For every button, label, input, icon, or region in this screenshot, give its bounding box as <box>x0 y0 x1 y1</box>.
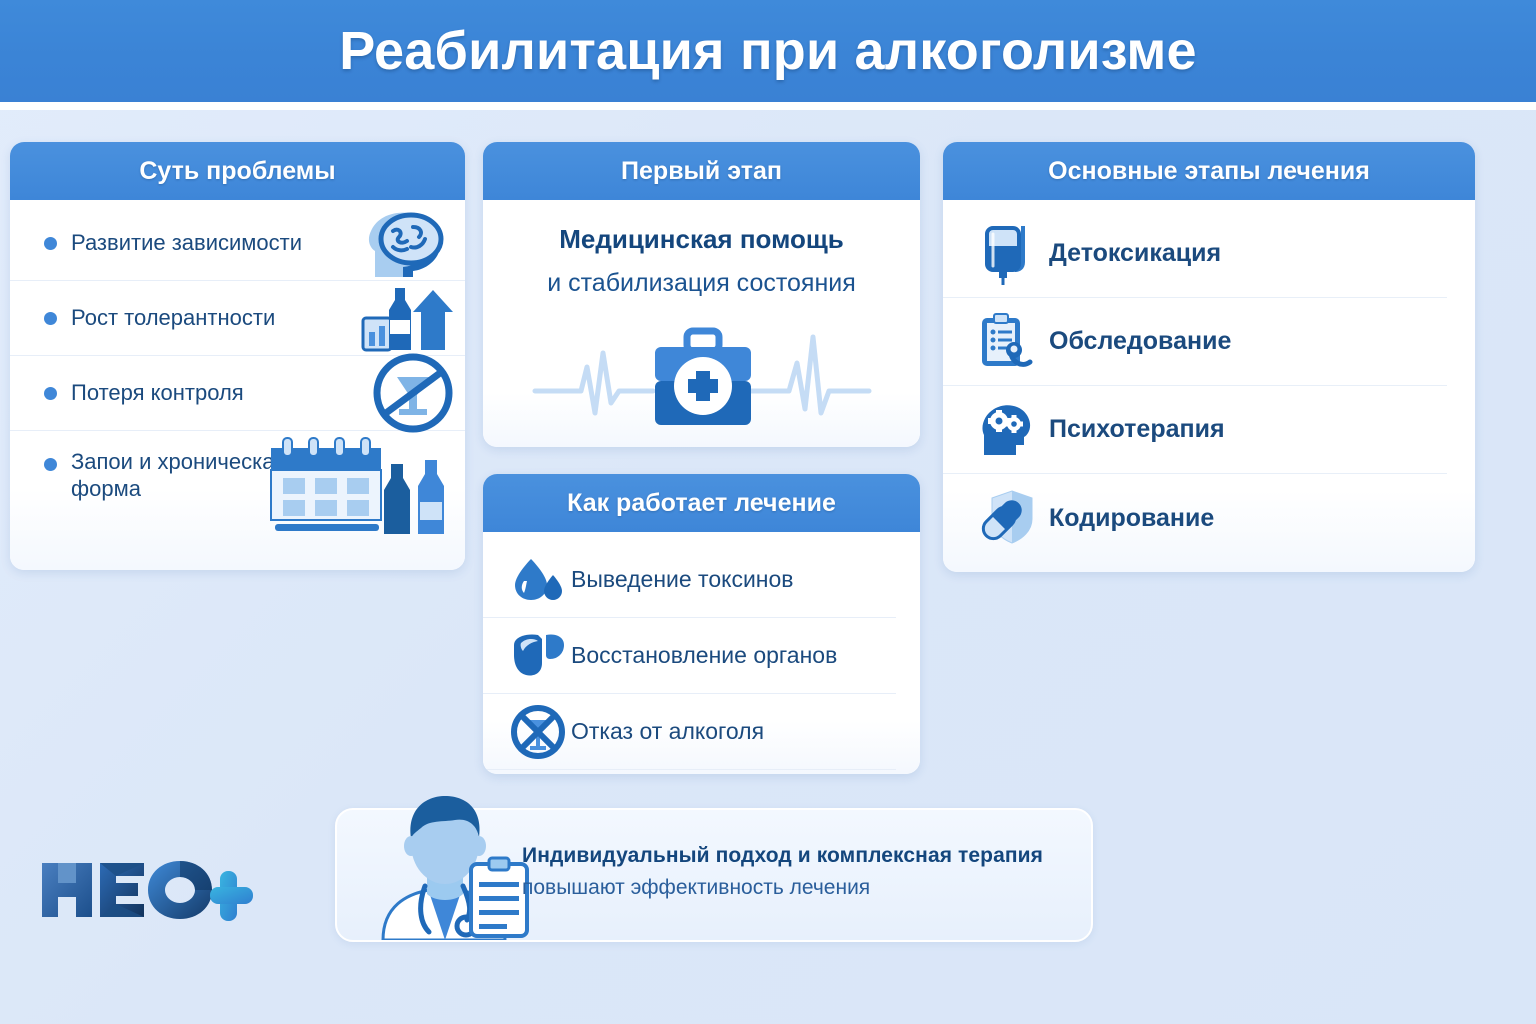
list-item[interactable]: Восстановление органов <box>483 618 896 694</box>
stage-item-label: Психотерапия <box>1049 415 1225 444</box>
first-stage-line-1: Медицинская помощь <box>503 224 900 255</box>
brain-head-icon <box>359 207 455 279</box>
liver-icon <box>509 633 567 679</box>
panel-treatment-stages-title: Основные этапы лечения <box>1048 157 1370 186</box>
bullet-icon <box>44 458 57 471</box>
panel-first-stage-header: Первый этап <box>483 142 920 200</box>
panel-problem-body: Развитие зависимости Рост толерантнос <box>10 200 465 570</box>
stage-item-label: Детоксикация <box>1049 239 1221 268</box>
banner-text: Индивидуальный подход и комплексная тера… <box>522 844 1082 900</box>
bullet-icon <box>44 312 57 325</box>
list-item[interactable]: Отказ от алкоголя <box>483 694 896 770</box>
first-stage-line-2: и стабилизация состояния <box>503 269 900 298</box>
panel-first-stage-title: Первый этап <box>621 157 782 186</box>
problem-item-label: Рост толерантности <box>71 305 275 332</box>
pill-shield-icon <box>971 489 1043 547</box>
panel-first-stage: Первый этап Медицинская помощь и стабили… <box>483 142 920 447</box>
neo-plus-logo <box>38 855 258 925</box>
bullet-icon <box>44 237 57 250</box>
stage-item-label: Обследование <box>1049 327 1231 356</box>
summary-banner: Индивидуальный подход и комплексная тера… <box>335 808 1093 942</box>
list-item[interactable]: Обследование <box>943 298 1447 386</box>
no-drink-icon <box>509 704 567 760</box>
list-item[interactable]: Потеря контроля <box>10 356 465 431</box>
panel-first-stage-body: Медицинская помощь и стабилизация состоя… <box>483 200 920 447</box>
bottle-growth-arrow-icon <box>359 280 455 356</box>
list-item[interactable]: Выведение токсинов <box>483 542 896 618</box>
panel-problem: Суть проблемы Развитие зависимости <box>10 142 465 570</box>
stage-item-label: Кодирование <box>1049 504 1214 533</box>
list-item[interactable]: Психотерапия <box>943 386 1447 474</box>
list-item[interactable]: Кодирование <box>943 474 1447 562</box>
iv-drip-icon <box>971 222 1043 286</box>
panel-treatment-stages-header: Основные этапы лечения <box>943 142 1475 200</box>
first-aid-kit-heartbeat-icon <box>483 317 920 435</box>
problem-item-label: Развитие зависимости <box>71 230 302 257</box>
no-alcohol-icon <box>371 351 455 435</box>
header-underline <box>0 102 1536 110</box>
bullet-icon <box>44 387 57 400</box>
water-drop-icon <box>509 555 567 605</box>
panel-problem-header: Суть проблемы <box>10 142 465 200</box>
how-it-works-list: Выведение токсинов Восстановление органо… <box>483 532 920 770</box>
list-item[interactable]: Рост толерантности <box>10 281 465 356</box>
how-item-label: Отказ от алкоголя <box>571 718 764 745</box>
calendar-bottles-icon <box>265 434 455 538</box>
panel-how-it-works-header: Как работает лечение <box>483 474 920 532</box>
doctor-clipboard-icon <box>359 790 534 940</box>
problem-item-label: Потеря контроля <box>71 380 244 407</box>
list-item[interactable]: Детоксикация <box>943 210 1447 298</box>
how-item-label: Выведение токсинов <box>571 566 794 593</box>
page-header: Реабилитация при алкоголизме <box>0 0 1536 102</box>
panel-how-it-works-title: Как работает лечение <box>567 489 836 518</box>
panel-how-it-works: Как работает лечение Выведение токсинов <box>483 474 920 774</box>
panel-treatment-stages: Основные этапы лечения Детоксикация <box>943 142 1475 572</box>
clipboard-stethoscope-icon <box>971 312 1043 372</box>
panel-problem-title: Суть проблемы <box>139 157 335 186</box>
how-item-label: Восстановление органов <box>571 642 837 669</box>
problem-list: Развитие зависимости Рост толерантнос <box>10 200 465 541</box>
head-gears-icon <box>971 401 1043 459</box>
panel-treatment-stages-body: Детоксикация <box>943 200 1475 572</box>
first-stage-text: Медицинская помощь и стабилизация состоя… <box>483 200 920 298</box>
list-item[interactable]: Запои и хроническая форма <box>10 431 465 541</box>
banner-line-2: повышают эффективность лечения <box>522 876 1082 900</box>
treatment-stages-list: Детоксикация <box>943 200 1475 562</box>
banner-line-1: Индивидуальный подход и комплексная тера… <box>522 844 1082 868</box>
page-title: Реабилитация при алкоголизме <box>339 20 1197 82</box>
panel-how-it-works-body: Выведение токсинов Восстановление органо… <box>483 532 920 774</box>
list-item[interactable]: Развитие зависимости <box>10 206 465 281</box>
